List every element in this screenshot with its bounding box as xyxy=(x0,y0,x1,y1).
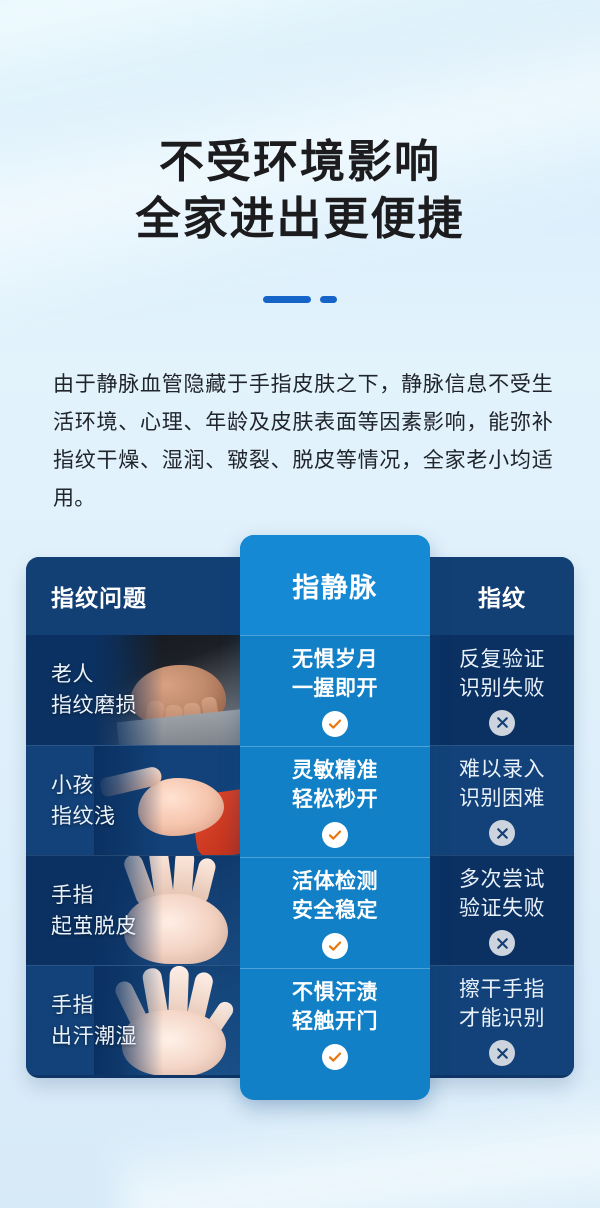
photo-child-pointing-finger xyxy=(94,746,240,855)
table-row-fingerprint-3: 多次尝试 验证失败 xyxy=(430,855,574,965)
divider-bar-short xyxy=(320,296,337,303)
vein-text-1: 无惧岁月 一握即开 xyxy=(292,645,378,703)
column-fingerprint-problems: 指纹问题 老人 指纹磨损 小孩 指纹浅 xyxy=(26,557,240,1075)
cross-icon xyxy=(489,930,515,956)
column-finger-vein: 指静脉 无惧岁月 一握即开 灵敏精准 轻松秒开 活体检测 安全稳定 xyxy=(240,535,430,1100)
column-header-problem: 指纹问题 xyxy=(26,557,240,635)
fingerprint-text-3: 多次尝试 验证失败 xyxy=(459,865,545,923)
table-row-vein-1: 无惧岁月 一握即开 xyxy=(240,635,430,746)
column-header-fingerprint: 指纹 xyxy=(430,557,574,635)
page-title: 不受环境影响 全家进出更便捷 xyxy=(0,133,600,247)
table-row-vein-2: 灵敏精准 轻松秒开 xyxy=(240,746,430,857)
column-header-problem-label: 指纹问题 xyxy=(51,579,147,613)
check-icon xyxy=(322,711,348,737)
problem-text-3: 手指 起茧脱皮 xyxy=(51,880,137,942)
problem-text-1: 老人 指纹磨损 xyxy=(51,659,137,721)
comparison-table: 指纹问题 老人 指纹磨损 小孩 指纹浅 xyxy=(26,535,574,1105)
page-title-line-1: 不受环境影响 xyxy=(0,133,600,190)
fingerprint-text-4: 擦干手指 才能识别 xyxy=(459,975,545,1033)
table-row-problem-4: 手指 出汗潮湿 xyxy=(26,965,240,1075)
table-row-problem-3: 手指 起茧脱皮 xyxy=(26,855,240,965)
cross-icon xyxy=(489,710,515,736)
divider-bar-long xyxy=(263,296,311,303)
column-fingerprint: 指纹 反复验证 识别失败 难以录入 识别困难 多次尝试 验证失败 xyxy=(430,557,574,1075)
table-row-fingerprint-2: 难以录入 识别困难 xyxy=(430,745,574,855)
marketing-page: 不受环境影响 全家进出更便捷 由于静脉血管隐藏于手指皮肤之下，静脉信息不受生活环… xyxy=(0,0,600,1208)
intro-paragraph: 由于静脉血管隐藏于手指皮肤之下，静脉信息不受生活环境、心理、年龄及皮肤表面等因素… xyxy=(53,366,553,518)
fingerprint-text-1: 反复验证 识别失败 xyxy=(459,645,545,703)
table-row-problem-1: 老人 指纹磨损 xyxy=(26,635,240,745)
problem-text-4: 手指 出汗潮湿 xyxy=(51,990,137,1052)
table-row-fingerprint-4: 擦干手指 才能识别 xyxy=(430,965,574,1075)
column-header-vein-label: 指静脉 xyxy=(292,566,378,605)
vein-text-2: 灵敏精准 轻松秒开 xyxy=(292,756,378,814)
check-icon xyxy=(322,822,348,848)
title-divider xyxy=(0,296,600,303)
table-row-vein-3: 活体检测 安全稳定 xyxy=(240,857,430,968)
column-header-vein: 指静脉 xyxy=(240,535,430,635)
problem-text-2: 小孩 指纹浅 xyxy=(51,770,116,832)
table-row-fingerprint-1: 反复验证 识别失败 xyxy=(430,635,574,745)
table-row-problem-2: 小孩 指纹浅 xyxy=(26,745,240,855)
table-row-vein-4: 不惧汗渍 轻触开门 xyxy=(240,968,430,1079)
vein-text-4: 不惧汗渍 轻触开门 xyxy=(292,978,378,1036)
vein-text-3: 活体检测 安全稳定 xyxy=(292,867,378,925)
check-icon xyxy=(322,933,348,959)
check-icon xyxy=(322,1044,348,1070)
cross-icon xyxy=(489,1040,515,1066)
column-header-fingerprint-label: 指纹 xyxy=(478,579,526,613)
cross-icon xyxy=(489,820,515,846)
page-title-line-2: 全家进出更便捷 xyxy=(0,190,600,247)
fingerprint-text-2: 难以录入 识别困难 xyxy=(459,755,545,813)
